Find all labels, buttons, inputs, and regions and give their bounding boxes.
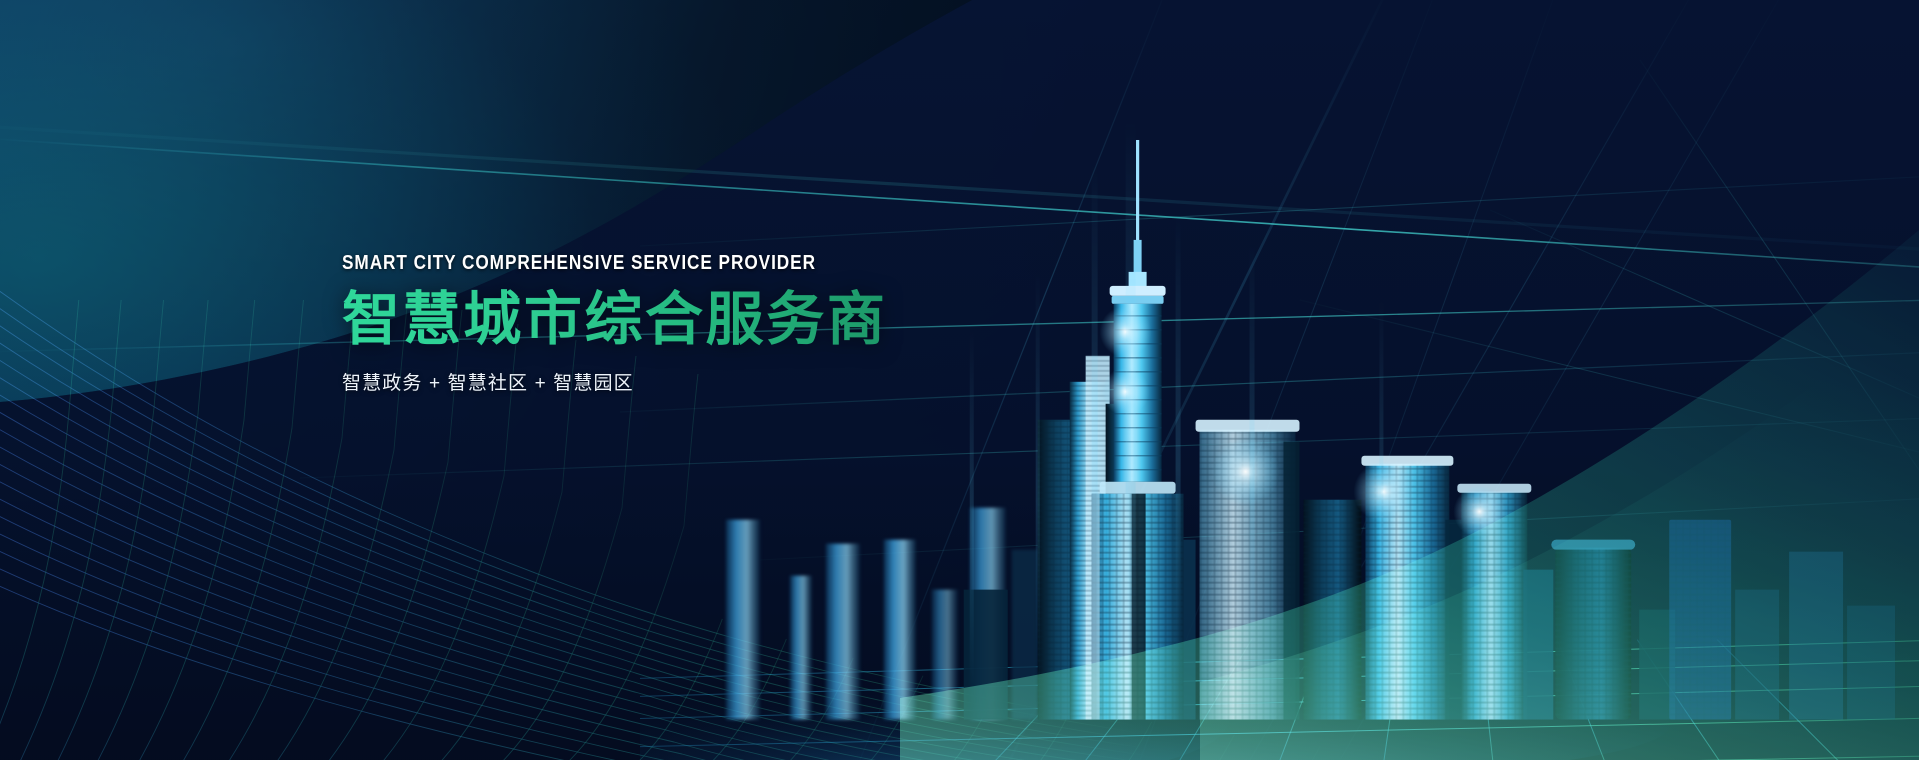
hero-headline: 智慧城市综合服务商 [342,289,1102,350]
hero-banner: SMART CITY COMPREHENSIVE SERVICE PROVIDE… [0,0,1919,760]
hero-eyebrow: SMART CITY COMPREHENSIVE SERVICE PROVIDE… [342,253,996,273]
hero-subline: 智慧政务 + 智慧社区 + 智慧园区 [342,368,1102,395]
city-skyline-illustration [640,120,1919,760]
hero-copy-block: SMART CITY COMPREHENSIVE SERVICE PROVIDE… [342,253,1102,395]
